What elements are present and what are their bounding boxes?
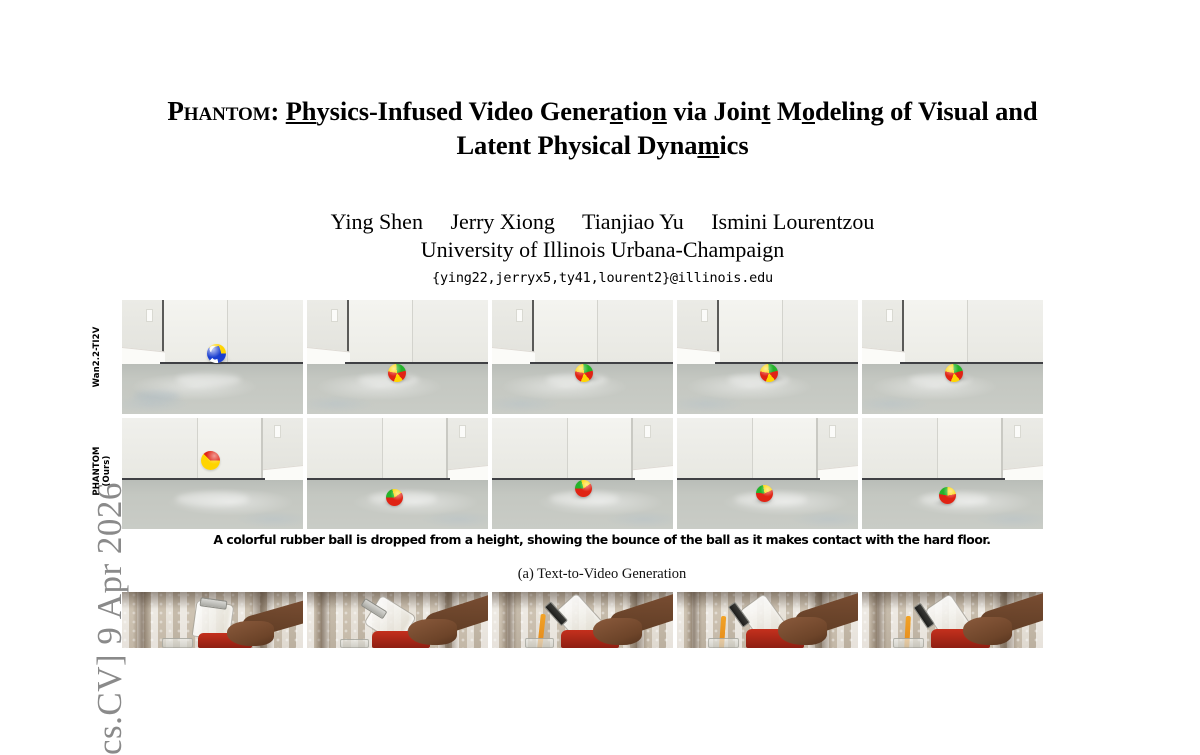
ball-object xyxy=(939,487,956,504)
title-text: via Join xyxy=(667,96,762,126)
title-underlined-letter: a xyxy=(610,96,623,126)
title-text: ysics-Infused Video Gener xyxy=(316,96,609,126)
title-underlined-letter: o xyxy=(802,96,815,126)
scene-ball-room xyxy=(307,300,488,414)
video-frame[interactable] xyxy=(677,592,858,648)
ball-object xyxy=(386,489,403,506)
title-text: tio xyxy=(623,96,652,126)
filmstrip-row-phantom: PHANTOM (Ours) xyxy=(122,418,1082,529)
video-frame[interactable] xyxy=(677,418,858,529)
affiliation: University of Illinois Urbana-Champaign xyxy=(110,236,1095,263)
title-underlined-letter: n xyxy=(652,96,667,126)
video-frame[interactable] xyxy=(492,592,673,648)
filmstrip-row-wan: Wan2.2-TI2V xyxy=(122,300,1082,414)
title-underlined-letter: m xyxy=(697,130,719,160)
title-block: Phantom: Physics-Infused Video Generatio… xyxy=(110,94,1095,162)
author-emails: {ying22,jerryx5,ty41,lourent2}@illinois.… xyxy=(110,270,1095,286)
scene-ball-room-mirrored xyxy=(307,418,488,529)
title-text: ics xyxy=(719,130,748,160)
row-label-phantom-line1: PHANTOM xyxy=(92,446,102,495)
scene-pouring xyxy=(862,592,1043,648)
figure-a-prompt-caption: A colorful rubber ball is dropped from a… xyxy=(122,532,1082,547)
title-colon: : xyxy=(270,96,285,126)
title-line-1: Physics-Infused Video Generation via Joi… xyxy=(286,96,1038,126)
scene-ball-room xyxy=(492,300,673,414)
video-frame[interactable] xyxy=(492,418,673,529)
title-text: Latent Physical Dyna xyxy=(456,130,697,160)
ball-object xyxy=(945,364,963,382)
figure-b-filmstrips: -TI2V xyxy=(122,592,1082,648)
video-frame[interactable] xyxy=(122,418,303,529)
scene-ball-room-mirrored xyxy=(492,418,673,529)
scene-ball-room-mirrored xyxy=(677,418,858,529)
ball-object xyxy=(575,480,592,497)
video-frame[interactable] xyxy=(307,592,488,648)
video-frame[interactable] xyxy=(862,592,1043,648)
video-frame[interactable] xyxy=(862,418,1043,529)
scene-ball-room xyxy=(122,300,303,414)
scene-ball-room xyxy=(862,300,1043,414)
ball-object xyxy=(575,364,593,382)
ball-object xyxy=(760,364,778,382)
video-frame[interactable] xyxy=(307,300,488,414)
scene-pouring xyxy=(307,592,488,648)
video-frame[interactable] xyxy=(122,300,303,414)
video-frame[interactable] xyxy=(307,418,488,529)
title-line-2: Latent Physical Dynamics xyxy=(456,130,748,160)
video-frame-input[interactable] xyxy=(122,592,303,648)
video-frame[interactable] xyxy=(862,300,1043,414)
ball-object xyxy=(201,451,220,470)
ball-object xyxy=(388,364,406,382)
scene-ball-room xyxy=(677,300,858,414)
page-title: Phantom: Physics-Infused Video Generatio… xyxy=(110,94,1095,162)
authors-block: Ying Shen Jerry Xiong Tianjiao Yu Ismini… xyxy=(110,208,1095,286)
row-label-phantom-line2: (Ours) xyxy=(102,456,112,487)
scene-pouring xyxy=(677,592,858,648)
video-frame[interactable] xyxy=(492,300,673,414)
title-underlined-letter: Ph xyxy=(286,96,317,126)
figure-a-filmstrips: Wan2.2-TI2V xyxy=(122,300,1082,529)
author-names: Ying Shen Jerry Xiong Tianjiao Yu Ismini… xyxy=(110,208,1095,235)
row-label-wan: Wan2.2-TI2V xyxy=(92,300,106,414)
scene-pouring xyxy=(122,592,303,648)
ball-object xyxy=(207,344,226,363)
title-acronym: Phantom xyxy=(167,96,270,126)
scene-pouring xyxy=(492,592,673,648)
title-text: M xyxy=(770,96,801,126)
scene-ball-room-mirrored xyxy=(862,418,1043,529)
row-label-phantom: PHANTOM (Ours) xyxy=(92,414,106,528)
ball-object xyxy=(756,485,773,502)
scene-ball-room-mirrored xyxy=(122,418,303,529)
filmstrip-row-i2v: -TI2V xyxy=(122,592,1082,648)
video-frame[interactable] xyxy=(677,300,858,414)
title-text: deling of Visual and xyxy=(815,96,1038,126)
paper-page: Phantom: Physics-Infused Video Generatio… xyxy=(0,0,1200,648)
figure-a-subcaption: (a) Text-to-Video Generation xyxy=(122,566,1082,583)
